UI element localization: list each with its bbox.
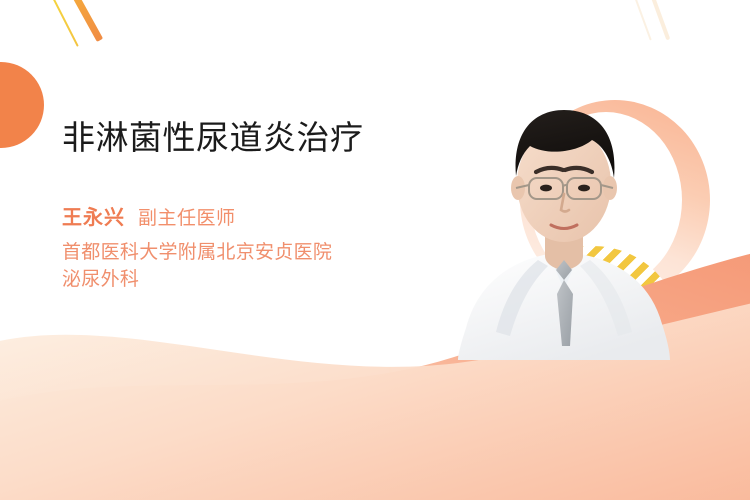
eye-right bbox=[578, 185, 590, 192]
page-title: 非淋菌性尿道炎治疗 bbox=[62, 116, 412, 160]
diagonal-stroke-cream-bottom-icon bbox=[388, 367, 406, 410]
diagonal-stroke-cream-right-icon bbox=[646, 0, 670, 40]
doctor-rank: 副主任医师 bbox=[138, 203, 236, 230]
info-text-block: 非淋菌性尿道炎治疗 王永兴 副主任医师 首都医科大学附属北京安贞医院 泌尿外科 bbox=[62, 116, 412, 294]
orange-circle-decor bbox=[0, 62, 44, 148]
avatar bbox=[452, 84, 676, 360]
diagonal-stroke-yellow-icon bbox=[47, 0, 79, 47]
doctor-hospital: 首都医科大学附属北京安贞医院 bbox=[62, 240, 412, 267]
diagonal-stroke-cream-right-thin-icon bbox=[630, 0, 652, 41]
doctor-affiliation: 首都医科大学附属北京安贞医院 泌尿外科 bbox=[62, 240, 412, 294]
doctor-intro-card: 非淋菌性尿道炎治疗 王永兴 副主任医师 首都医科大学附属北京安贞医院 泌尿外科 bbox=[0, 0, 750, 500]
doctor-name: 王永兴 bbox=[62, 201, 125, 230]
doctor-byline: 王永兴 副主任医师 bbox=[62, 201, 412, 230]
diagonal-stroke-orange-icon bbox=[66, 0, 103, 42]
portrait-body bbox=[458, 110, 670, 360]
eye-left bbox=[540, 185, 552, 192]
doctor-department: 泌尿外科 bbox=[62, 267, 412, 294]
